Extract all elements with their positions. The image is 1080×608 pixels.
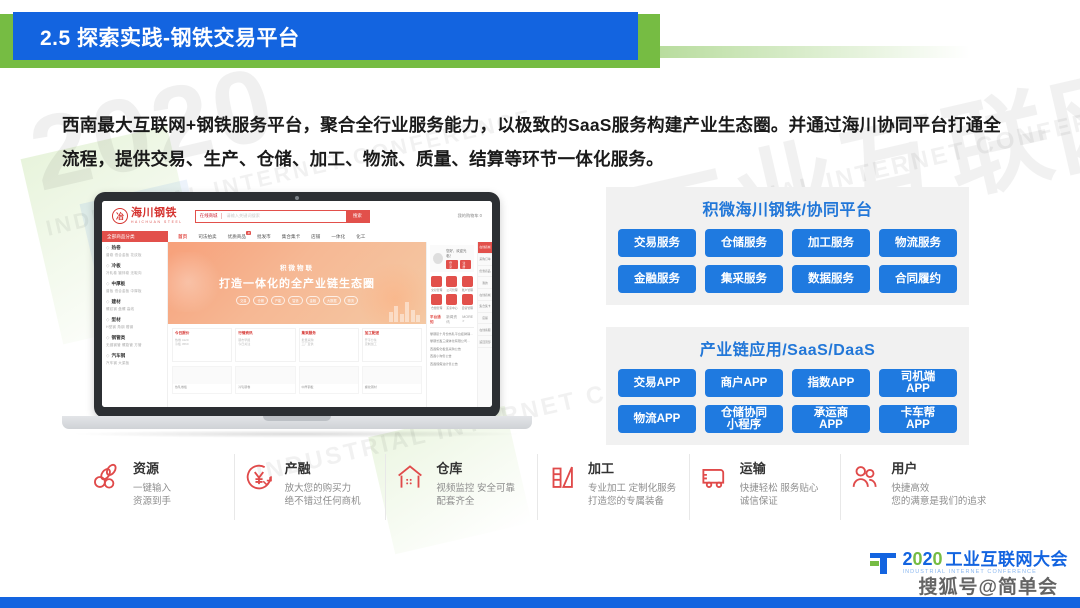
shortcut-tile-icon bbox=[462, 276, 473, 287]
banner-tag[interactable]: 仓储 bbox=[253, 296, 267, 305]
shortcut-tile-label: 仓储管理 bbox=[430, 306, 443, 310]
laptop-lid: 冶 海川钢铁 HAICHUAN STEEL 在线商城 请输入关键词搜索 搜索 我… bbox=[94, 192, 500, 418]
feature-strip: 资源 一键输入 资源到手 产融 放大您的购买力 绝不错过任何商机 仓库 视频监控… bbox=[88, 452, 998, 530]
info-card-title: 行情资讯 bbox=[238, 331, 292, 336]
product-image bbox=[363, 367, 421, 384]
side-rail-menu: 在线商城采购订单优惠商品我的在线商城集合集卡店铺在线客服返回顶部 bbox=[477, 242, 492, 407]
auth-button[interactable]: 注册 bbox=[460, 260, 471, 269]
rail-item[interactable]: 在线商城 bbox=[478, 242, 492, 254]
product-image bbox=[173, 367, 231, 384]
product-title: 螺纹钢材 bbox=[363, 384, 421, 390]
product-card[interactable]: 热轧卷板 bbox=[172, 366, 232, 394]
rail-item[interactable]: 我的 bbox=[478, 277, 492, 289]
product-image bbox=[300, 367, 358, 384]
truck-icon bbox=[697, 460, 731, 494]
header-fade-strip bbox=[640, 46, 970, 58]
site-nav-items: 首页司法拍卖优质商品新批发市集合集卡店铺一体化化工 bbox=[168, 234, 365, 240]
site-nav-item[interactable]: 集合集卡 bbox=[282, 234, 300, 240]
shortcut-tile[interactable]: 账户管理 bbox=[461, 276, 474, 292]
banner-tag[interactable]: 交易 bbox=[236, 296, 250, 305]
category-subitems: 无缝钢管 螺旋管 方管 bbox=[106, 343, 163, 348]
info-card-lines: 批量采购工厂直供 bbox=[302, 338, 356, 346]
site-nav-item[interactable]: 优质商品新 bbox=[228, 234, 246, 240]
category-item[interactable]: ◇中厚板 普板 低合金板 中厚板 bbox=[106, 281, 163, 294]
feature-item: 加工 专业加工 定制化服务 打造您的专属装备 bbox=[543, 452, 695, 530]
banner-tag[interactable]: 物流 bbox=[344, 296, 358, 305]
product-card[interactable]: 冷轧钢卷 bbox=[235, 366, 295, 394]
service-chip[interactable]: 交易服务 bbox=[618, 229, 696, 257]
site-nav-item[interactable]: 一体化 bbox=[331, 234, 345, 240]
shortcut-tile[interactable]: 公司管理 bbox=[445, 276, 458, 292]
logo-mark-icon: 冶 bbox=[112, 208, 128, 224]
category-icon: ◇ bbox=[106, 317, 109, 323]
shortcut-tile-label: 公司管理 bbox=[445, 288, 458, 292]
category-subitems: 普卷 低合金板 花纹板 bbox=[106, 253, 163, 258]
shortcut-tile[interactable]: 自营管理 bbox=[461, 294, 474, 310]
banner-title: 打造一体化的全产业链生态圈 bbox=[219, 275, 375, 291]
notice-item[interactable]: 攀钢钒十月份热轧平台挂牌销... bbox=[430, 331, 474, 336]
service-chip[interactable]: 集采服务 bbox=[705, 265, 783, 293]
site-body: ◇热卷 普卷 低合金板 花纹板 ◇冷板 冷轧卷 镀锌卷 无取向 ◇中厚板 普板 … bbox=[102, 242, 492, 407]
feature-title: 用户 bbox=[891, 458, 986, 477]
search-input[interactable]: 请输入关键词搜索 bbox=[222, 213, 346, 219]
notice-item[interactable]: 西昌小询售公告 bbox=[430, 353, 474, 358]
laptop-notch bbox=[263, 416, 331, 421]
feature-subtitle: 专业加工 定制化服务 打造您的专属装备 bbox=[588, 482, 676, 508]
banner-subtitle: 积微物联 bbox=[280, 262, 314, 272]
product-card[interactable]: 螺纹钢材 bbox=[362, 366, 422, 394]
site-topbar: 冶 海川钢铁 HAICHUAN STEEL 在线商城 请输入关键词搜索 搜索 我… bbox=[102, 201, 492, 231]
users-icon bbox=[848, 460, 882, 494]
site-nav-item[interactable]: 批发市 bbox=[257, 234, 271, 240]
category-icon: ◇ bbox=[106, 353, 109, 359]
user-panel: 您好，欢迎光临！ 登录注册 交易管理 公司管理 账户管理 仓储管理 买家中心 自… bbox=[426, 242, 477, 407]
site-main-column: 积微物联 打造一体化的全产业链生态圈 交易仓储产能智造金融大数据物流 今日报价 … bbox=[168, 242, 426, 407]
warehouse-icon bbox=[393, 460, 427, 494]
shortcut-tile[interactable]: 买家中心 bbox=[445, 294, 458, 310]
rail-item[interactable]: 集合集卡 bbox=[478, 301, 492, 313]
product-title: 热轧卷板 bbox=[173, 384, 231, 390]
service-chip[interactable]: 卡车帮 APP bbox=[879, 405, 957, 433]
category-icon: ◇ bbox=[106, 281, 109, 287]
conference-year: 2020 bbox=[902, 550, 942, 569]
service-chip[interactable]: 物流服务 bbox=[879, 229, 957, 257]
shortcut-tile-icon bbox=[431, 294, 442, 305]
rail-item[interactable]: 店铺 bbox=[478, 313, 492, 325]
bottom-blue-bar bbox=[0, 597, 1080, 608]
feature-item: 产融 放大您的购买力 绝不错过任何商机 bbox=[240, 452, 392, 530]
category-subitems: H型钢 角钢 槽钢 bbox=[106, 325, 163, 330]
feature-title: 加工 bbox=[588, 458, 676, 477]
avatar bbox=[433, 253, 443, 264]
shortcut-tile-icon bbox=[446, 294, 457, 305]
finance-icon bbox=[242, 460, 276, 494]
auth-button[interactable]: 登录 bbox=[446, 260, 457, 269]
feature-title: 运输 bbox=[740, 458, 819, 477]
site-nav-item[interactable]: 化工 bbox=[356, 234, 365, 240]
process-icon bbox=[545, 460, 579, 494]
sohu-watermark: 搜狐号@简单会 bbox=[918, 572, 1058, 599]
slide-header: 2.5 探索实践-钢铁交易平台 bbox=[0, 14, 660, 68]
feature-title: 仓库 bbox=[436, 458, 515, 477]
notice-more-link[interactable]: MORE > bbox=[462, 315, 474, 325]
rail-item[interactable]: 返回顶部 bbox=[478, 336, 492, 348]
service-chip[interactable]: 数据服务 bbox=[792, 265, 870, 293]
notice-tab-news[interactable]: 新闻资讯 bbox=[446, 315, 458, 325]
category-item[interactable]: ◇型材 H型钢 角钢 槽钢 bbox=[106, 317, 163, 330]
info-card[interactable]: 集采服务 批量采购工厂直供 bbox=[299, 328, 359, 362]
info-card-title: 集采服务 bbox=[302, 331, 356, 336]
category-item[interactable]: ◇冷板 冷轧卷 镀锌卷 无取向 bbox=[106, 263, 163, 276]
laptop-shadow bbox=[70, 430, 524, 438]
banner-skyline-graphic bbox=[389, 302, 421, 322]
site-search-bar[interactable]: 在线商城 请输入关键词搜索 搜索 bbox=[195, 210, 370, 223]
conference-name-cn: 工业互联网大会 bbox=[946, 551, 1069, 569]
rail-item[interactable]: 采购订单 bbox=[478, 254, 492, 266]
product-title: 中厚钢板 bbox=[300, 384, 358, 390]
notice-tab-platform[interactable]: 平台通知 bbox=[430, 315, 442, 325]
notice-item[interactable]: 西昌焦化板集采购公告 bbox=[430, 346, 474, 351]
banner-tag-list: 交易仓储产能智造金融大数据物流 bbox=[236, 296, 358, 305]
website-preview: 冶 海川钢铁 HAICHUAN STEEL 在线商城 请输入关键词搜索 搜索 我… bbox=[102, 201, 492, 407]
user-greeting: 您好，欢迎光临！ bbox=[446, 248, 471, 258]
notice-item[interactable]: 攀钢长盈三媒体化有限公司... bbox=[430, 338, 474, 343]
lead-paragraph: 西南最大互联网+钢铁服务平台，聚合全行业服务能力，以极致的SaaS服务构建产业生… bbox=[62, 108, 1002, 176]
shortcut-tile-label: 账户管理 bbox=[461, 288, 474, 292]
conference-logo-mark-icon bbox=[870, 552, 896, 574]
service-chip[interactable]: 物流APP bbox=[618, 405, 696, 433]
hero-banner[interactable]: 积微物联 打造一体化的全产业链生态圈 交易仓储产能智造金融大数据物流 bbox=[168, 242, 426, 324]
service-chip[interactable]: 合同履约 bbox=[879, 265, 957, 293]
banner-tag[interactable]: 大数据 bbox=[323, 296, 341, 305]
product-card-row: 热轧卷板 冷轧钢卷 中厚钢板 螺纹钢材 bbox=[168, 366, 426, 394]
search-scope-select[interactable]: 在线商城 bbox=[196, 213, 223, 219]
laptop-mockup: 冶 海川钢铁 HAICHUAN STEEL 在线商城 请输入关键词搜索 搜索 我… bbox=[62, 192, 532, 442]
site-nav-item[interactable]: 司法拍卖 bbox=[198, 234, 216, 240]
site-nav: 全部商品分类 首页司法拍卖优质商品新批发市集合集卡店铺一体化化工 bbox=[102, 231, 492, 242]
site-nav-item[interactable]: 首页 bbox=[178, 234, 187, 240]
notice-list: 攀钢钒十月份热轧平台挂牌销...攀钢长盈三媒体化有限公司...西昌焦化板集采购公… bbox=[430, 331, 474, 366]
all-categories-button[interactable]: 全部商品分类 bbox=[102, 231, 168, 242]
laptop-screen: 冶 海川钢铁 HAICHUAN STEEL 在线商城 请输入关键词搜索 搜索 我… bbox=[102, 201, 492, 407]
service-chip-grid: 交易服务仓储服务加工服务物流服务金融服务集采服务数据服务合同履约 bbox=[618, 229, 957, 293]
info-card[interactable]: 加工配送 开平分条定制加工 bbox=[362, 328, 422, 362]
site-category-sidebar: ◇热卷 普卷 低合金板 花纹板 ◇冷板 冷轧卷 镀锌卷 无取向 ◇中厚板 普板 … bbox=[102, 242, 168, 407]
user-auth-buttons: 登录注册 bbox=[446, 260, 471, 269]
shortcut-tile[interactable]: 仓储管理 bbox=[430, 294, 443, 310]
shortcut-tile-label: 交易管理 bbox=[430, 288, 443, 292]
service-chip[interactable]: 仓储协同 小程序 bbox=[705, 405, 783, 433]
panel-industry-apps: 产业链应用/SaaS/DaaS 交易APP商户APP指数APP司机端 APP物流… bbox=[606, 327, 969, 445]
info-card-title: 加工配送 bbox=[365, 331, 419, 336]
nav-badge: 新 bbox=[246, 231, 251, 235]
product-card[interactable]: 中厚钢板 bbox=[299, 366, 359, 394]
cart-link[interactable]: 我的购物车 0 bbox=[458, 213, 482, 219]
panel-collaboration-platform: 积微海川钢铁/协同平台 交易服务仓储服务加工服务物流服务金融服务集采服务数据服务… bbox=[606, 187, 969, 305]
logs-icon bbox=[90, 460, 124, 494]
logo-text-cn: 海川钢铁 bbox=[131, 208, 183, 220]
category-subitems: 冷轧卷 镀锌卷 无取向 bbox=[106, 271, 163, 276]
service-chip[interactable]: 交易APP bbox=[618, 369, 696, 397]
shortcut-tile-label: 自营管理 bbox=[461, 306, 474, 310]
shortcut-tile-label: 买家中心 bbox=[445, 306, 458, 310]
feature-title: 资源 bbox=[133, 458, 171, 477]
info-card-lines: 开平分条定制加工 bbox=[365, 338, 419, 346]
info-card-title: 今日报价 bbox=[175, 331, 229, 336]
feature-item: 仓库 视频监控 安全可靠 配套齐全 bbox=[391, 452, 543, 530]
webcam-icon bbox=[295, 196, 299, 200]
service-chip[interactable]: 商户APP bbox=[705, 369, 783, 397]
category-icon: ◇ bbox=[106, 245, 109, 251]
notice-item[interactable]: 西昌煤焦油计售公告 bbox=[430, 361, 474, 366]
notice-tabs: 平台通知 新闻资讯 MORE > bbox=[430, 315, 474, 328]
category-icon: ◇ bbox=[106, 335, 109, 341]
site-nav-item[interactable]: 店铺 bbox=[311, 234, 320, 240]
rail-item[interactable]: 优惠商品 bbox=[478, 266, 492, 278]
banner-tag[interactable]: 金融 bbox=[306, 296, 320, 305]
info-card-lines: 钢市早报今日关注 bbox=[238, 338, 292, 346]
category-icon: ◇ bbox=[106, 299, 109, 305]
category-subitems: 螺纹钢 盘螺 高线 bbox=[106, 307, 163, 312]
info-card[interactable]: 行情资讯 钢市早报今日关注 bbox=[235, 328, 295, 362]
logo-text-en: HAICHUAN STEEL bbox=[131, 220, 183, 224]
category-subitems: 汽车钢 大梁板 bbox=[106, 361, 163, 366]
shortcut-tile-icon bbox=[462, 294, 473, 305]
service-chip[interactable]: 金融服务 bbox=[618, 265, 696, 293]
service-chip[interactable]: 指数APP bbox=[792, 369, 870, 397]
panel-title: 积微海川钢铁/协同平台 bbox=[618, 196, 957, 220]
user-login-box: 您好，欢迎光临！ 登录注册 bbox=[430, 245, 474, 272]
category-subitems: 普板 低合金板 中厚板 bbox=[106, 289, 163, 294]
product-image bbox=[236, 367, 294, 384]
category-item[interactable]: ◇汽车钢 汽车钢 大梁板 bbox=[106, 353, 163, 366]
banner-tag[interactable]: 产能 bbox=[271, 296, 285, 305]
feature-subtitle: 快捷轻松 服务贴心 诚信保证 bbox=[740, 482, 819, 508]
rail-item[interactable]: 在线商城 bbox=[478, 289, 492, 301]
service-chip[interactable]: 承运商 APP bbox=[792, 405, 870, 433]
rail-item[interactable]: 在线客服 bbox=[478, 324, 492, 336]
quick-info-cards: 今日报价 热卷 4120冷板 4560 行情资讯 钢市早报今日关注 集采服务 批… bbox=[168, 324, 426, 366]
info-card[interactable]: 今日报价 热卷 4120冷板 4560 bbox=[172, 328, 232, 362]
category-item[interactable]: ◇建材 螺纹钢 盘螺 高线 bbox=[106, 299, 163, 312]
site-right-column: 您好，欢迎光临！ 登录注册 交易管理 公司管理 账户管理 仓储管理 买家中心 自… bbox=[426, 242, 492, 407]
shortcut-tile[interactable]: 交易管理 bbox=[430, 276, 443, 292]
info-card-lines: 热卷 4120冷板 4560 bbox=[175, 338, 229, 346]
service-chip[interactable]: 司机端 APP bbox=[879, 369, 957, 397]
category-icon: ◇ bbox=[106, 263, 109, 269]
service-chip[interactable]: 仓储服务 bbox=[705, 229, 783, 257]
product-title: 冷轧钢卷 bbox=[236, 384, 294, 390]
banner-tag[interactable]: 智造 bbox=[288, 296, 302, 305]
panel-title: 产业链应用/SaaS/DaaS bbox=[618, 336, 957, 360]
shortcut-tile-icon bbox=[431, 276, 442, 287]
category-item[interactable]: ◇钢管类 无缝钢管 螺旋管 方管 bbox=[106, 335, 163, 348]
feature-title: 产融 bbox=[285, 458, 361, 477]
feature-item: 用户 快捷高效 您的满意是我们的追求 bbox=[846, 452, 998, 530]
search-button[interactable]: 搜索 bbox=[346, 211, 369, 222]
feature-subtitle: 视频监控 安全可靠 配套齐全 bbox=[436, 482, 515, 508]
page-title: 2.5 探索实践-钢铁交易平台 bbox=[40, 22, 300, 52]
category-item[interactable]: ◇热卷 普卷 低合金板 花纹板 bbox=[106, 245, 163, 258]
feature-item: 资源 一键输入 资源到手 bbox=[88, 452, 240, 530]
feature-subtitle: 快捷高效 您的满意是我们的追求 bbox=[891, 482, 986, 508]
feature-subtitle: 放大您的购买力 绝不错过任何商机 bbox=[285, 482, 361, 508]
shortcut-tile-icon bbox=[446, 276, 457, 287]
app-chip-grid: 交易APP商户APP指数APP司机端 APP物流APP仓储协同 小程序承运商 A… bbox=[618, 369, 957, 433]
feature-subtitle: 一键输入 资源到手 bbox=[133, 482, 171, 508]
site-logo[interactable]: 冶 海川钢铁 HAICHUAN STEEL bbox=[112, 208, 183, 224]
service-chip[interactable]: 加工服务 bbox=[792, 229, 870, 257]
feature-item: 运输 快捷轻松 服务贴心 诚信保证 bbox=[695, 452, 847, 530]
user-shortcut-tiles: 交易管理 公司管理 账户管理 仓储管理 买家中心 自营管理 bbox=[430, 276, 474, 310]
